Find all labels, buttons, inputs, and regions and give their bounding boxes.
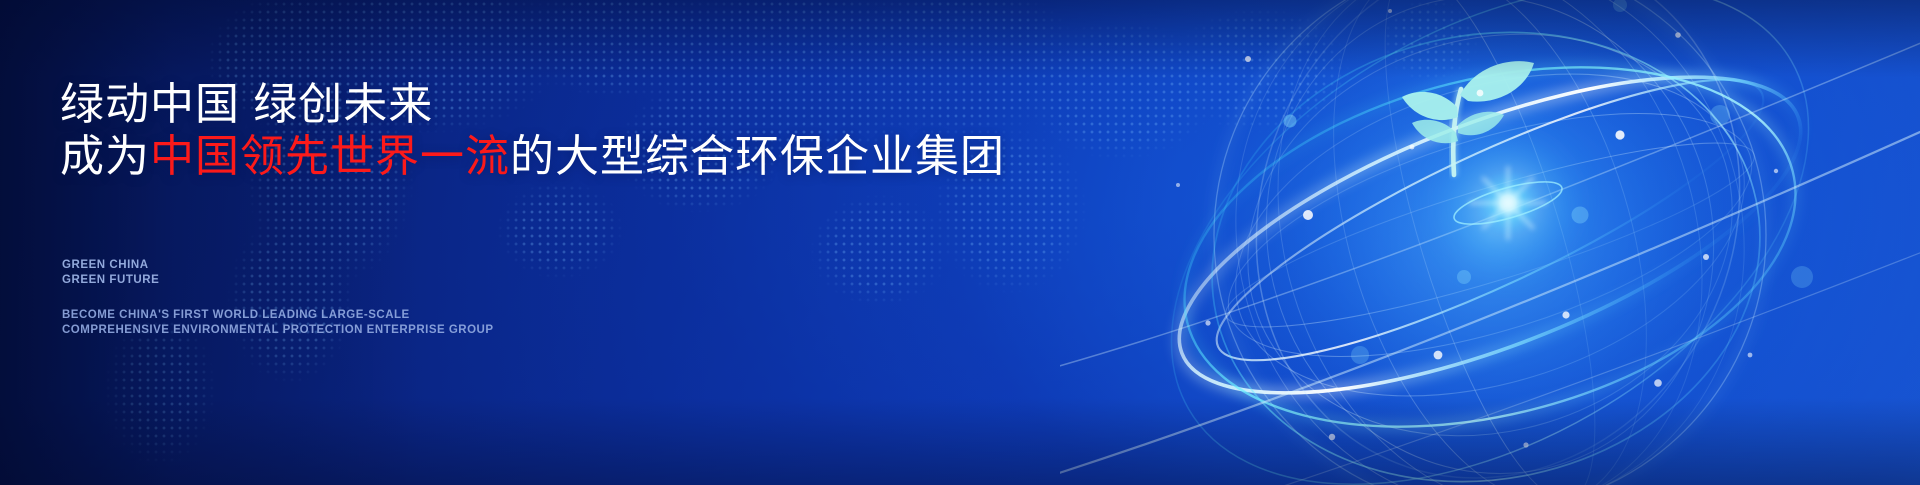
headline-suffix: 的大型综合环保企业集团: [510, 132, 1005, 181]
headline-line-2: 成为中国领先世界一流的大型综合环保企业集团: [60, 130, 1005, 184]
hero-banner: 绿动中国 绿创未来 成为中国领先世界一流的大型综合环保企业集团 GREEN CH…: [0, 0, 1920, 485]
english-subtitle: GREEN CHINA GREEN FUTURE: [62, 258, 159, 287]
english-description: BECOME CHINA'S FIRST WORLD LEADING LARGE…: [62, 308, 494, 337]
headline-prefix: 成为: [60, 132, 150, 181]
english-description-line-2: COMPREHENSIVE ENVIRONMENTAL PROTECTION E…: [62, 323, 494, 338]
english-description-line-1: BECOME CHINA'S FIRST WORLD LEADING LARGE…: [62, 308, 494, 323]
banner-text-block: 绿动中国 绿创未来 成为中国领先世界一流的大型综合环保企业集团 GREEN CH…: [60, 0, 1060, 485]
english-subtitle-line-2: GREEN FUTURE: [62, 273, 159, 288]
headline-highlight: 中国领先世界一流: [150, 132, 510, 181]
english-subtitle-line-1: GREEN CHINA: [62, 258, 159, 273]
headline-line-1: 绿动中国 绿创未来: [60, 78, 433, 132]
